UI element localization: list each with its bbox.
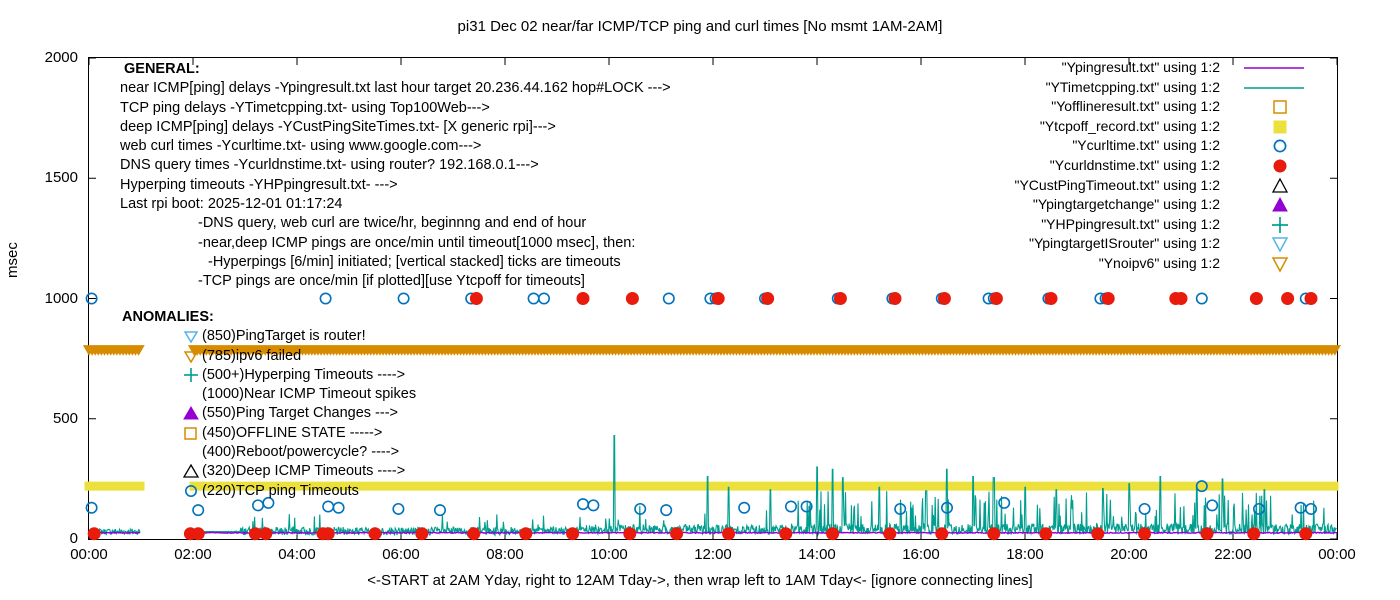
x-tick-label: 04:00 bbox=[252, 546, 342, 563]
square-icon bbox=[1230, 117, 1304, 137]
anomalies-annotation-block: ANOMALIES: (850)PingTarget is router!(78… bbox=[122, 308, 416, 501]
anomaly-row: (500+)Hyperping Timeouts ----> bbox=[122, 366, 416, 385]
y-tick-label: 1000 bbox=[8, 290, 78, 307]
line-icon bbox=[1230, 58, 1304, 78]
legend-symbol-wrap bbox=[1230, 254, 1304, 274]
legend-label: "Ypingresult.txt" using 1:2 bbox=[1062, 59, 1220, 75]
triangle-up-icon bbox=[182, 462, 200, 480]
legend-symbol-wrap bbox=[1230, 176, 1304, 196]
square-icon bbox=[182, 424, 200, 442]
anomaly-row: (320)Deep ICMP Timeouts ----> bbox=[122, 462, 416, 481]
x-tick-label: 00:00 bbox=[44, 546, 134, 563]
x-tick-label: 02:00 bbox=[148, 546, 238, 563]
legend-row: "Ycurldnstime.txt" using 1:2 bbox=[0, 156, 1338, 176]
x-tick-label: 16:00 bbox=[876, 546, 966, 563]
triangle-up-icon bbox=[182, 404, 200, 422]
legend-row: "YTimetcpping.txt" using 1:2 bbox=[0, 78, 1338, 98]
anomaly-row: (850)PingTarget is router! bbox=[122, 327, 416, 346]
general-indented-line: -TCP pings are once/min [if plotted][use… bbox=[120, 272, 671, 291]
page-title: pi31 Dec 02 near/far ICMP/TCP ping and c… bbox=[0, 18, 1400, 35]
circle-icon bbox=[1230, 156, 1304, 176]
anomaly-label: (450)OFFLINE STATE -----> bbox=[202, 425, 382, 441]
plus-icon bbox=[1230, 215, 1304, 235]
legend-label: "YTimetcpping.txt" using 1:2 bbox=[1046, 79, 1220, 95]
legend-row: "Ycurltime.txt" using 1:2 bbox=[0, 136, 1338, 156]
anomalies-rows: (850)PingTarget is router!(785)ipv6 fail… bbox=[122, 327, 416, 501]
legend-symbol-wrap bbox=[1230, 215, 1304, 235]
triangle-down-icon bbox=[182, 327, 200, 345]
anomaly-label: (400)Reboot/powercycle? ----> bbox=[202, 444, 399, 460]
legend-label: "Ycurldnstime.txt" using 1:2 bbox=[1050, 157, 1220, 173]
anomaly-label: (550)Ping Target Changes ---> bbox=[202, 405, 398, 421]
anomaly-row: (400)Reboot/powercycle? ----> bbox=[122, 443, 416, 462]
legend-row: "Ypingtargetchange" using 1:2 bbox=[0, 195, 1338, 215]
legend-label: "Ytcpoff_record.txt" using 1:2 bbox=[1040, 118, 1220, 134]
legend-label: "Yofflineresult.txt" using 1:2 bbox=[1051, 98, 1220, 114]
x-tick-label: 20:00 bbox=[1084, 546, 1174, 563]
square-icon bbox=[1230, 97, 1304, 117]
x-tick-label: 14:00 bbox=[772, 546, 862, 563]
legend-symbol-wrap bbox=[1230, 195, 1304, 215]
legend-row: "YHPpingresult.txt" using 1:2 bbox=[0, 215, 1338, 235]
legend-symbol-wrap bbox=[1230, 58, 1304, 78]
circle-icon bbox=[1230, 136, 1304, 156]
x-tick-label: 06:00 bbox=[356, 546, 446, 563]
anomaly-label: (1000)Near ICMP Timeout spikes bbox=[202, 386, 416, 402]
x-tick-label: 12:00 bbox=[668, 546, 758, 563]
anomaly-row: (785)ipv6 failed bbox=[122, 347, 416, 366]
y-tick-label: 0 bbox=[8, 530, 78, 547]
anomaly-row: (550)Ping Target Changes ---> bbox=[122, 404, 416, 423]
legend: "Ypingresult.txt" using 1:2"YTimetcpping… bbox=[0, 58, 1338, 274]
legend-symbol-wrap bbox=[1230, 156, 1304, 176]
anomaly-row: (1000)Near ICMP Timeout spikes bbox=[122, 385, 416, 404]
legend-label: "Ypingtargetchange" using 1:2 bbox=[1033, 196, 1220, 212]
x-tick-label: 10:00 bbox=[564, 546, 654, 563]
x-axis-caption: <-START at 2AM Yday, right to 12AM Tday-… bbox=[0, 572, 1400, 589]
legend-row: "Ynoipv6" using 1:2 bbox=[0, 254, 1338, 274]
legend-row: "Ytcpoff_record.txt" using 1:2 bbox=[0, 117, 1338, 137]
anomaly-label: (220)TCP ping Timeouts bbox=[202, 483, 359, 499]
anomalies-header: ANOMALIES: bbox=[122, 308, 416, 327]
anomaly-symbol bbox=[182, 482, 200, 506]
triangle-down-icon bbox=[1230, 254, 1304, 274]
legend-row: "Ypingresult.txt" using 1:2 bbox=[0, 58, 1338, 78]
anomaly-row: (220)TCP ping Timeouts bbox=[122, 482, 416, 501]
triangle-up-icon bbox=[1230, 176, 1304, 196]
line-icon bbox=[1230, 78, 1304, 98]
legend-label: "Ycurltime.txt" using 1:2 bbox=[1072, 137, 1220, 153]
legend-row: "Yofflineresult.txt" using 1:2 bbox=[0, 97, 1338, 117]
legend-label: "Ynoipv6" using 1:2 bbox=[1099, 255, 1220, 271]
y-tick-label: 500 bbox=[8, 410, 78, 427]
legend-symbol-wrap bbox=[1230, 78, 1304, 98]
plus-icon bbox=[182, 366, 200, 384]
legend-label: "YpingtargetISrouter" using 1:2 bbox=[1029, 235, 1220, 251]
anomaly-row: (450)OFFLINE STATE -----> bbox=[122, 424, 416, 443]
legend-label: "YHPpingresult.txt" using 1:2 bbox=[1041, 216, 1220, 232]
legend-symbol-wrap bbox=[1230, 97, 1304, 117]
triangle-down-icon bbox=[182, 347, 200, 365]
anomaly-label: (850)PingTarget is router! bbox=[202, 328, 366, 344]
circle-icon bbox=[182, 482, 200, 500]
triangle-down-icon bbox=[1230, 234, 1304, 254]
x-tick-label: 18:00 bbox=[980, 546, 1070, 563]
x-tick-label: 22:00 bbox=[1188, 546, 1278, 563]
legend-label: "YCustPingTimeout.txt" using 1:2 bbox=[1014, 177, 1220, 193]
legend-symbol-wrap bbox=[1230, 234, 1304, 254]
x-tick-label: 08:00 bbox=[460, 546, 550, 563]
triangle-up-icon bbox=[1230, 195, 1304, 215]
anomaly-label: (785)ipv6 failed bbox=[202, 348, 301, 364]
x-tick-label: 00:00 bbox=[1292, 546, 1382, 563]
legend-row: "YpingtargetISrouter" using 1:2 bbox=[0, 234, 1338, 254]
legend-symbol-wrap bbox=[1230, 117, 1304, 137]
legend-row: "YCustPingTimeout.txt" using 1:2 bbox=[0, 176, 1338, 196]
anomaly-label: (320)Deep ICMP Timeouts ----> bbox=[202, 463, 405, 479]
legend-symbol-wrap bbox=[1230, 136, 1304, 156]
anomaly-label: (500+)Hyperping Timeouts ----> bbox=[202, 367, 405, 383]
